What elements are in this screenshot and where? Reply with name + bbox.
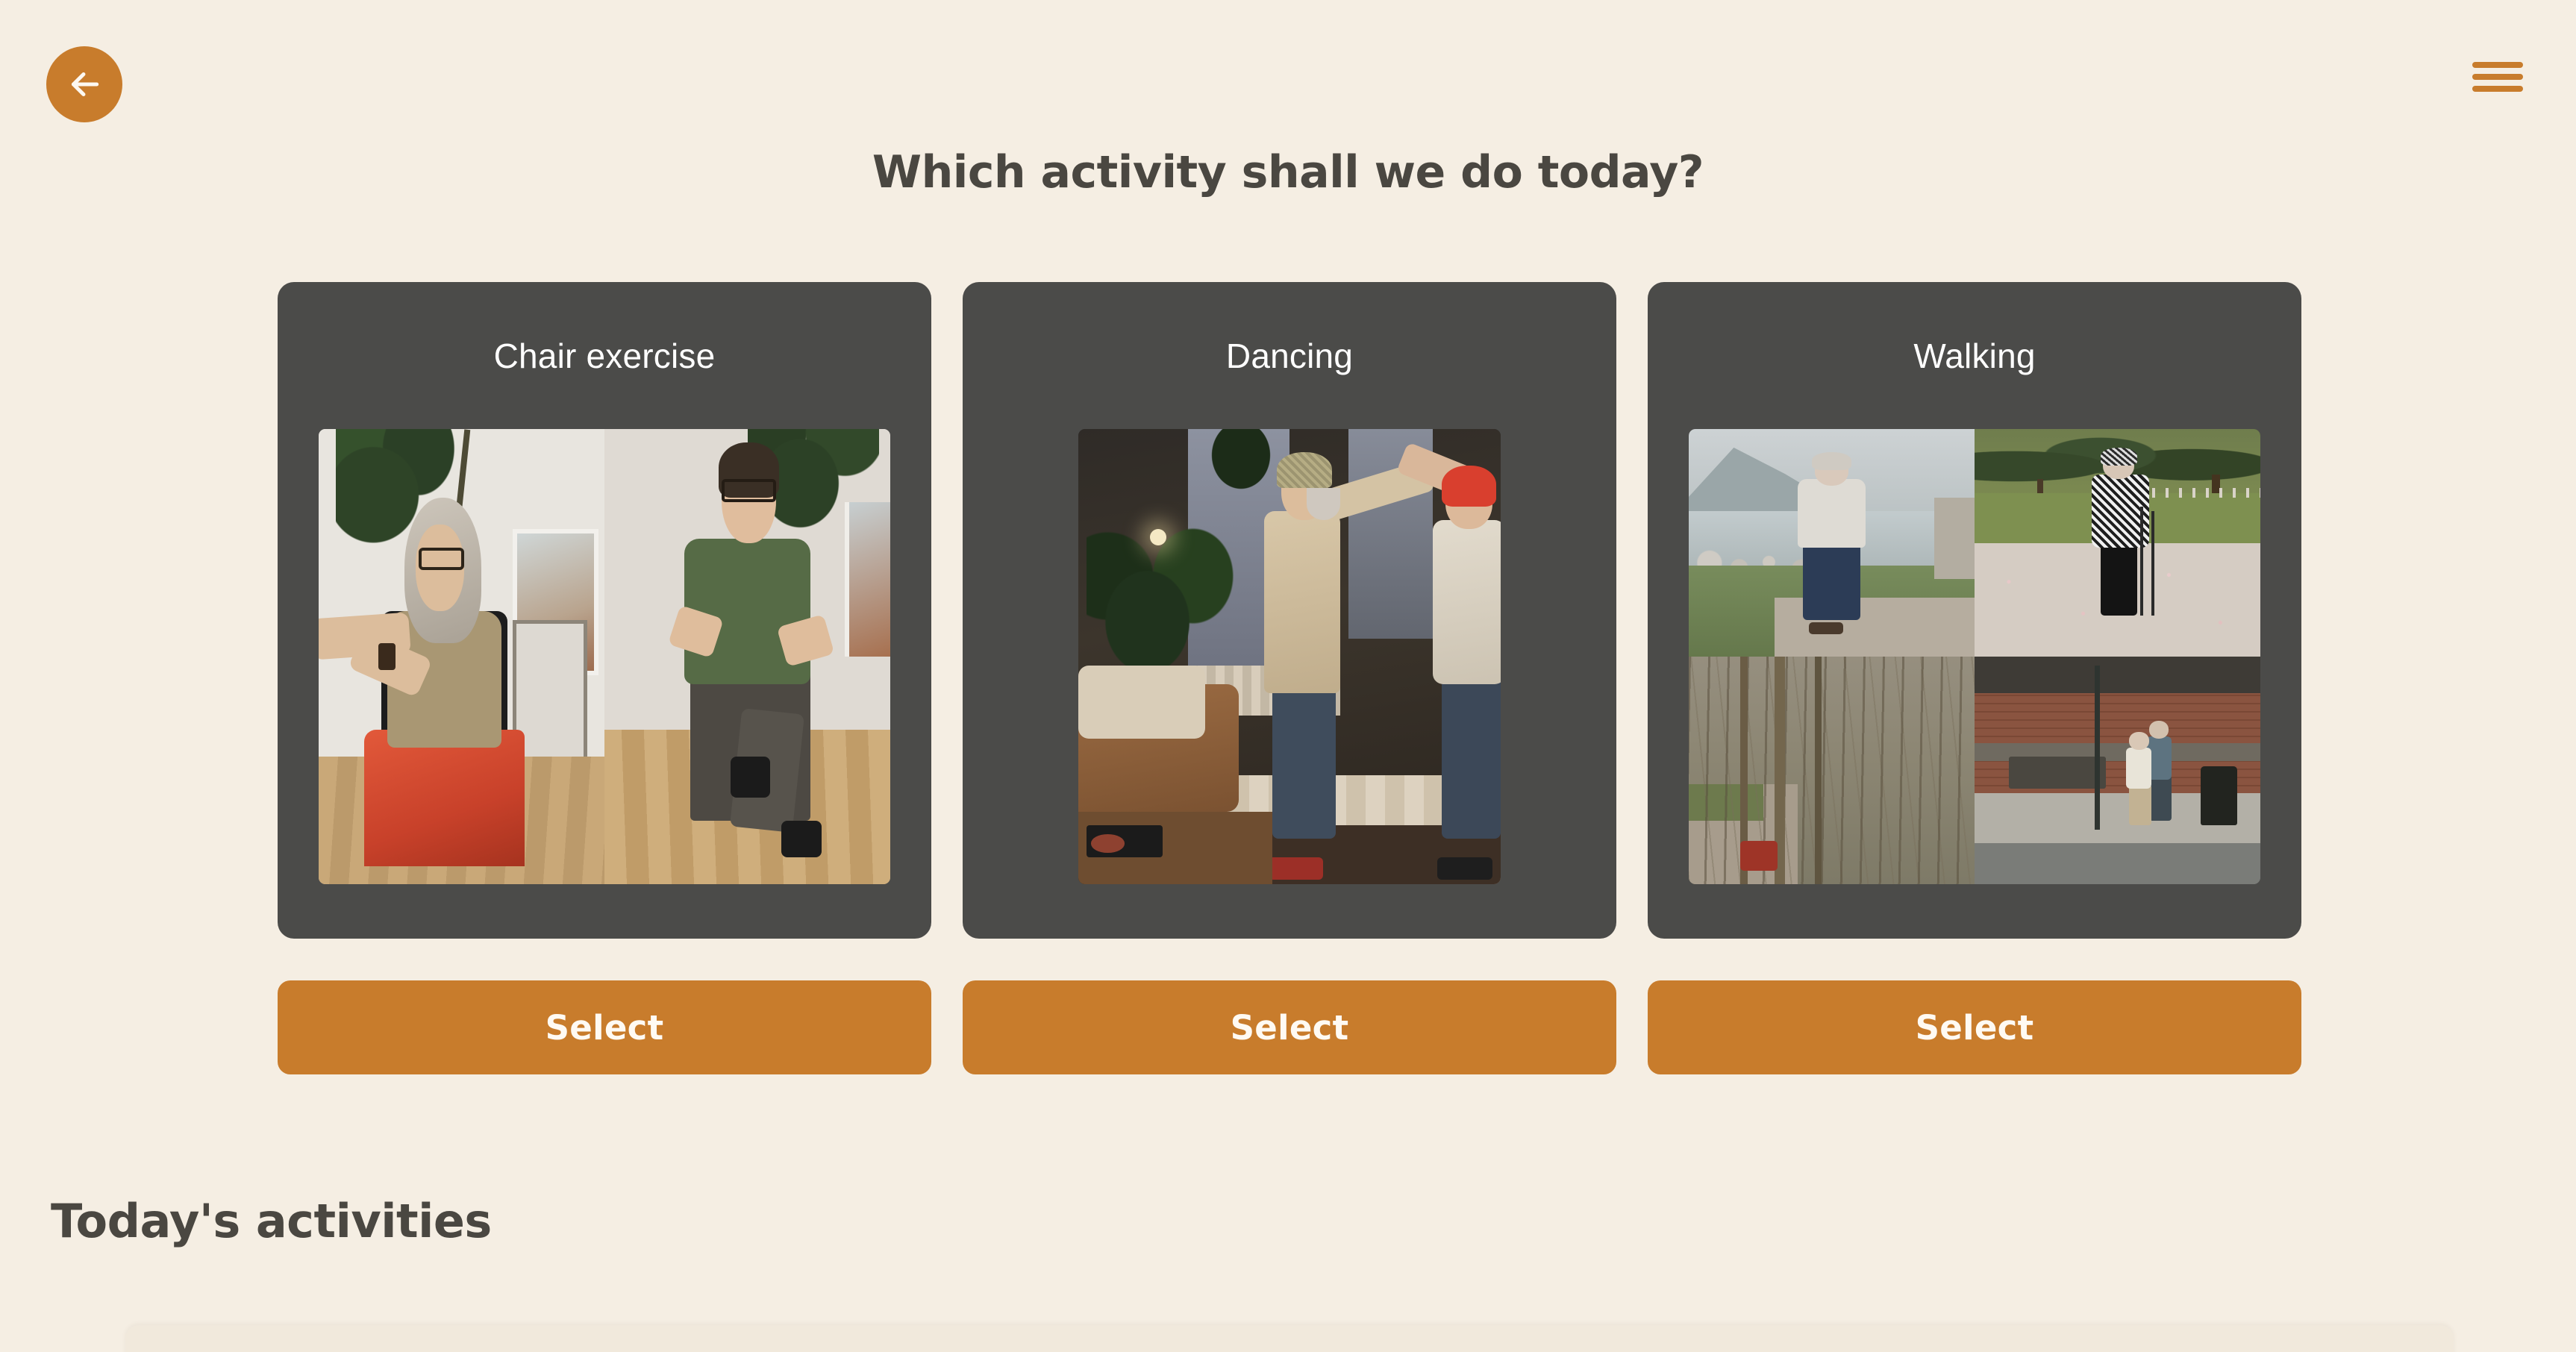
hamburger-menu-icon-bar-3 [2472,86,2523,92]
activity-card-chair-exercise[interactable]: Chair exercise [278,282,931,939]
photo-dancing-couple [1078,429,1501,884]
photo-woman-walking-with-poles [1975,429,2260,657]
chair-exercise-photo-pair [319,429,890,884]
page-title: Which activity shall we do today? [0,146,2576,198]
select-button-dancing[interactable]: Select [963,980,1616,1074]
activity-card-title: Dancing [1226,336,1353,377]
activity-column-chair-exercise: Chair exercise Selec [278,282,931,1074]
hamburger-menu-button[interactable] [2468,52,2527,101]
photo-couple-walking-by-building [1975,657,2260,884]
activity-column-dancing: Dancing Select [963,282,1616,1074]
select-button-walking[interactable]: Select [1648,980,2301,1074]
walking-photo-grid [1689,429,2260,884]
photo-woman-chair-exercise [319,429,604,884]
activity-card-dancing[interactable]: Dancing [963,282,1616,939]
photo-man-walking-by-lake [1689,429,1975,657]
hamburger-menu-icon-bar-1 [2472,62,2523,68]
activity-card-walking[interactable]: Walking [1648,282,2301,939]
section-title-todays-activities: Today's activities [51,1194,492,1248]
activity-column-walking: Walking [1648,282,2301,1074]
activity-card-list: Chair exercise Selec [278,282,2301,1074]
activity-card-title: Chair exercise [494,336,716,377]
photo-woodland-path [1689,657,1975,884]
photo-man-chair-exercise [604,429,890,884]
activity-card-title: Walking [1913,336,2035,377]
select-button-chair-exercise[interactable]: Select [278,980,931,1074]
hamburger-menu-icon-bar-2 [2472,74,2523,80]
back-button[interactable] [46,46,122,122]
todays-activities-panel[interactable] [125,1325,2454,1352]
arrow-left-icon [66,66,103,103]
dancing-couple-photo [1078,429,1501,884]
